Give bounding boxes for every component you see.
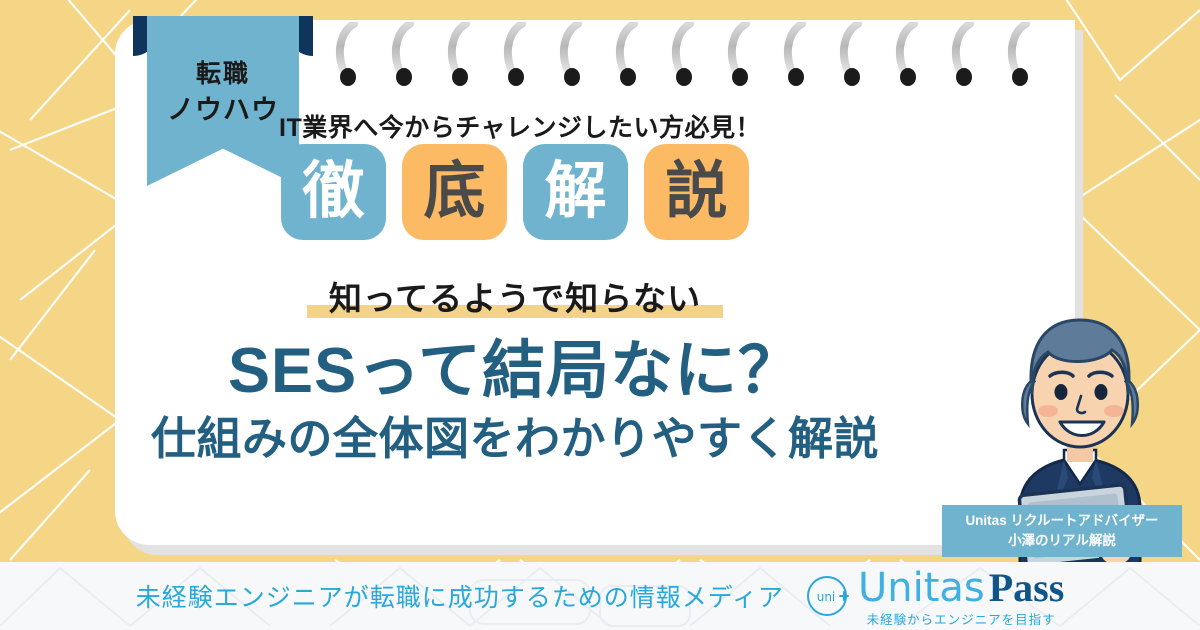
subtitle: 知ってるようで知らない	[307, 272, 723, 320]
logo-primary-text: Unitas	[858, 565, 985, 611]
footer-tagline: 未経験エンジニアが転職に成功するための情報メディア	[136, 578, 784, 614]
subtitle-text: 知ってるようで知らない	[329, 280, 701, 317]
logo-tagline: 未経験からエンジニアを目指す	[867, 609, 1056, 628]
emphasis-tile: 解	[523, 144, 628, 240]
title-sub: 仕組みの全体図をわかりやすく解説	[0, 411, 1030, 467]
emphasis-tile: 徹	[281, 144, 386, 240]
spiral-binding-icon	[330, 22, 1060, 112]
unitas-pass-logo[interactable]: uni Unitas Pass 未経験からエンジニアを目指す	[806, 564, 1064, 628]
emphasis-tile: 底	[402, 144, 507, 240]
svg-text:uni: uni	[817, 590, 836, 604]
ribbon-label-line1: 転職	[196, 58, 250, 92]
advisor-caption: Unitas リクルートアドバイザー 小澤のリアル解説	[942, 505, 1182, 557]
title-main: SESって結局なに？	[0, 336, 1030, 407]
kicker-text: IT業界へ今からチャレンジしたい方必見！	[0, 108, 1200, 144]
advisor-caption-line2: 小澤のリアル解説	[946, 531, 1178, 551]
emphasis-tiles: 徹 底 解 説	[0, 144, 1200, 240]
logo-secondary-text: Pass	[989, 564, 1065, 611]
advisor-caption-line1: Unitas リクルートアドバイザー	[946, 511, 1178, 531]
unitas-circle-icon: uni	[806, 574, 850, 618]
emphasis-tile: 説	[644, 144, 749, 240]
footer-bar: 未経験エンジニアが転職に成功するための情報メディア uni Unitas Pas…	[0, 562, 1200, 630]
